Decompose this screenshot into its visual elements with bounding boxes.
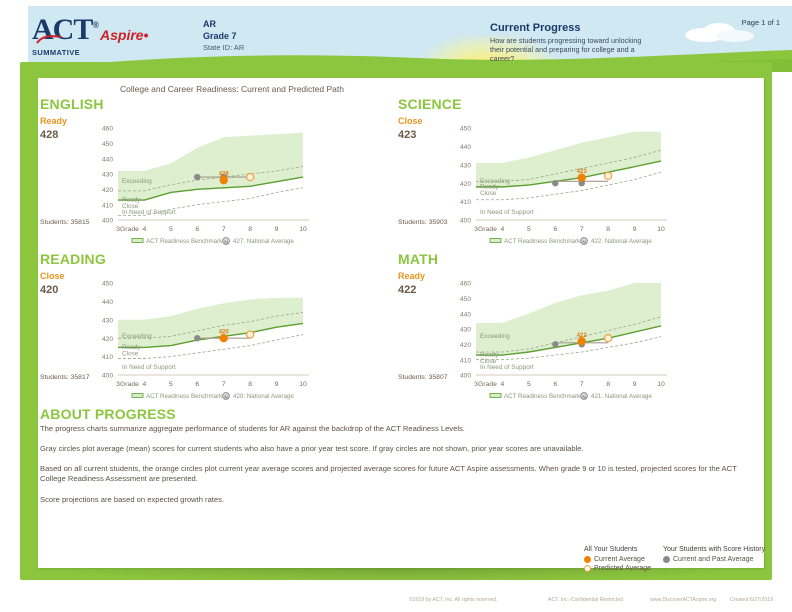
svg-text:440: 440 [102, 156, 113, 163]
svg-text:3: 3 [474, 226, 478, 233]
svg-text:400: 400 [460, 218, 471, 225]
gray-data-point [194, 174, 200, 180]
about-paragraph-2: Gray circles plot average (mean) scores … [40, 444, 740, 454]
svg-text:4: 4 [143, 381, 147, 388]
svg-text:5: 5 [169, 226, 173, 233]
svg-text:400: 400 [460, 373, 471, 380]
svg-text:420: 420 [460, 342, 471, 349]
svg-text:4: 4 [143, 226, 147, 233]
svg-text:460: 460 [460, 281, 471, 288]
svg-text:450: 450 [460, 296, 471, 303]
about-paragraph-1: The progress charts summarize aggregate … [40, 424, 740, 434]
svg-text:420: 420 [460, 181, 471, 188]
svg-text:10: 10 [657, 226, 665, 233]
svg-text:Close: Close [480, 190, 497, 197]
svg-text:10: 10 [657, 381, 665, 388]
svg-text:N: N [224, 239, 227, 244]
aspire-logo-dot: • [144, 27, 149, 43]
current-score-label: 420 [219, 330, 230, 336]
svg-text:N: N [582, 239, 585, 244]
svg-text:450: 450 [460, 126, 471, 133]
svg-text:10: 10 [299, 381, 307, 388]
svg-text:440: 440 [102, 299, 113, 306]
svg-text:8: 8 [248, 381, 252, 388]
svg-text:10: 10 [299, 226, 307, 233]
current-score-label: 423 [577, 169, 588, 175]
svg-text:410: 410 [460, 199, 471, 206]
footer-copyright: ©2019 by ACT, Inc. All rights reserved. [409, 597, 498, 603]
svg-text:430: 430 [460, 327, 471, 334]
aspire-logo: Aspire• [100, 27, 148, 43]
svg-text:In Need of Support: In Need of Support [480, 209, 534, 216]
legend-students-with-history: Your Students with Score History Current… [663, 546, 765, 563]
svg-text:Grade: Grade [478, 226, 497, 233]
gray-data-point [552, 180, 558, 186]
svg-text:In Need of Support: In Need of Support [122, 209, 176, 216]
svg-text:8: 8 [606, 381, 610, 388]
subject-title: READING [40, 251, 106, 267]
svg-text:Grade: Grade [478, 381, 497, 388]
svg-text:410: 410 [102, 354, 113, 361]
legend-benchmark-label: ACT Readiness Benchmark [504, 393, 581, 400]
current-score-label: 428 [219, 172, 230, 178]
grade-level: Grade 7 [203, 31, 237, 43]
chart-english: 400410420430440450460ExceedingReadyClose… [72, 118, 317, 260]
legend-all-your-students: All Your Students Current Average Predic… [584, 546, 651, 572]
legend-national-average-label: 421: National Average [591, 393, 652, 400]
footer-created: Created 6/27/2019 [730, 597, 773, 603]
about-paragraph-3: Based on all current students, the orang… [40, 464, 740, 484]
legend-national-average-label: 427: National Average [233, 238, 294, 245]
legend-benchmark-label: ACT Readiness Benchmark [146, 238, 223, 245]
current-score-label: 422 [577, 333, 588, 339]
act-logo-tm: ® [92, 20, 98, 30]
predicted-data-point [247, 173, 254, 180]
state-id: State ID: AR [203, 43, 244, 52]
svg-text:430: 430 [102, 172, 113, 179]
legend-benchmark-label: ACT Readiness Benchmark [504, 238, 581, 245]
organization-info: AR Grade 7 [203, 19, 237, 42]
svg-text:6: 6 [553, 381, 557, 388]
chart-reading: 400410420430440450ExceedingReadyCloseIn … [72, 273, 317, 415]
footer-website: www.DiscoverACTAspire.org [650, 597, 716, 603]
svg-text:6: 6 [195, 381, 199, 388]
svg-text:4: 4 [501, 226, 505, 233]
predicted-data-point [247, 331, 254, 338]
legend-national-average-label: 422: National Average [591, 238, 652, 245]
svg-text:9: 9 [633, 226, 637, 233]
legend-current-average-label: Current Average [594, 556, 645, 563]
svg-text:Grade: Grade [120, 381, 139, 388]
current-progress-title: Current Progress [490, 22, 580, 34]
svg-text:420: 420 [102, 187, 113, 194]
legend-current-average: Current Average [584, 556, 651, 563]
svg-text:7: 7 [222, 381, 226, 388]
svg-text:450: 450 [102, 141, 113, 148]
svg-text:7: 7 [580, 381, 584, 388]
summative-label: SUMMATIVE [32, 48, 80, 57]
predicted-data-point [605, 172, 612, 179]
svg-text:420: 420 [102, 336, 113, 343]
gray-data-point [194, 335, 200, 341]
legend-predicted-average-label: Predicted Average [594, 565, 651, 572]
legend-current-past-average-label: Current and Past Average [673, 556, 753, 563]
svg-text:6: 6 [553, 226, 557, 233]
svg-text:3: 3 [116, 226, 120, 233]
svg-text:410: 410 [102, 202, 113, 209]
legend-col2-heading: Your Students with Score History [663, 546, 765, 553]
svg-text:450: 450 [102, 281, 113, 288]
legend-national-average-label: 420: National Average [233, 393, 294, 400]
svg-text:3: 3 [116, 381, 120, 388]
svg-text:5: 5 [169, 381, 173, 388]
subject-title: SCIENCE [398, 96, 462, 112]
svg-text:8: 8 [248, 226, 252, 233]
svg-text:430: 430 [460, 162, 471, 169]
svg-text:9: 9 [275, 226, 279, 233]
svg-text:Exceeding: Exceeding [122, 178, 152, 185]
svg-text:In Need of Support: In Need of Support [122, 364, 176, 371]
svg-text:410: 410 [460, 357, 471, 364]
svg-text:In Need of Support: In Need of Support [480, 364, 534, 371]
subject-title: ENGLISH [40, 96, 104, 112]
svg-text:4: 4 [501, 381, 505, 388]
svg-text:N: N [582, 394, 585, 399]
orange-filled-dot-icon [584, 556, 591, 563]
svg-text:9: 9 [633, 381, 637, 388]
svg-text:400: 400 [102, 218, 113, 225]
svg-text:8: 8 [606, 226, 610, 233]
chart-science: 400410420430440450ExceedingReadyCloseIn … [430, 118, 675, 260]
svg-text:5: 5 [527, 226, 531, 233]
subject-title: MATH [398, 251, 438, 267]
svg-text:7: 7 [580, 226, 584, 233]
svg-text:400: 400 [102, 373, 113, 380]
current-progress-subtitle: How are students progressing toward unlo… [490, 36, 655, 63]
svg-text:440: 440 [460, 144, 471, 151]
organization-name: AR [203, 19, 237, 31]
svg-text:430: 430 [102, 317, 113, 324]
svg-text:5: 5 [527, 381, 531, 388]
legend-col1-heading: All Your Students [584, 546, 651, 553]
gray-data-point [552, 341, 558, 347]
chart-math: 400410420430440450460ExceedingReadyClose… [430, 273, 675, 415]
frame-shadow [22, 568, 770, 582]
orange-open-dot-icon [584, 565, 591, 572]
legend-current-past-average: Current and Past Average [663, 556, 765, 563]
predicted-data-point [605, 335, 612, 342]
svg-text:N: N [224, 394, 227, 399]
gray-dot-icon [663, 556, 670, 563]
svg-text:460: 460 [102, 126, 113, 133]
chart-section-title: College and Career Readiness: Current an… [120, 84, 344, 94]
svg-text:7: 7 [222, 226, 226, 233]
svg-text:Grade: Grade [120, 226, 139, 233]
svg-text:Exceeding: Exceeding [122, 333, 152, 340]
page-number: Page 1 of 1 [742, 18, 780, 27]
act-logo-swash-icon [36, 34, 62, 44]
svg-text:6: 6 [195, 226, 199, 233]
svg-text:Exceeding: Exceeding [480, 333, 510, 340]
legend-predicted-average: Predicted Average [584, 565, 651, 572]
footer-confidential: ACT, Inc.-Confidential Restricted [548, 597, 623, 603]
svg-text:440: 440 [460, 311, 471, 318]
about-progress-title: ABOUT PROGRESS [40, 406, 176, 422]
aspire-logo-text: Aspire [100, 27, 144, 43]
svg-text:9: 9 [275, 381, 279, 388]
svg-text:3: 3 [474, 381, 478, 388]
legend-benchmark-label: ACT Readiness Benchmark [146, 393, 223, 400]
about-paragraph-4: Score projections are based on expected … [40, 495, 740, 505]
svg-text:Close: Close [122, 350, 139, 357]
